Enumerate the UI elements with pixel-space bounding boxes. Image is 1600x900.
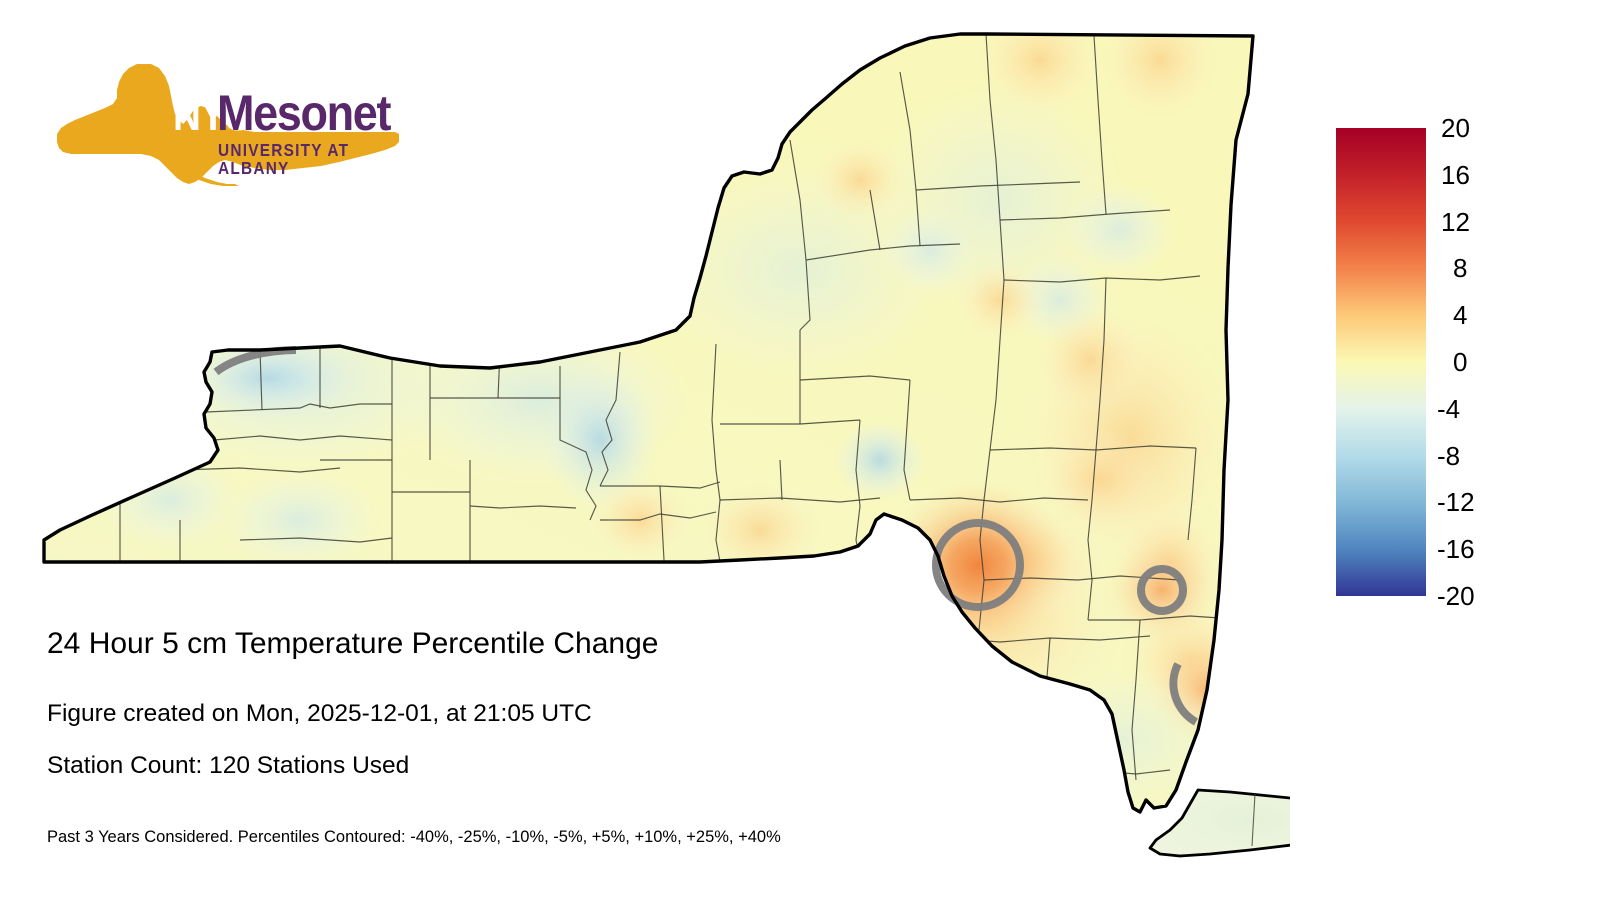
colorbar-gradient — [1336, 128, 1426, 596]
colorbar-tick-8: 8 — [1453, 255, 1467, 281]
colorbar-tick-labels: 201612840-4-8-12-16-20 — [1437, 128, 1527, 596]
colorbar-tick-neg4: -4 — [1437, 396, 1460, 422]
station-count-text: Station Count: 120 Stations Used — [47, 752, 409, 780]
colorbar-tick-0: 0 — [1453, 349, 1467, 375]
logo-university-text: UNIVERSITY AT ALBANY — [218, 142, 378, 177]
logo-mesonet-text: Mesonet — [217, 88, 390, 138]
colorbar-tick-12: 12 — [1441, 209, 1470, 235]
figure-title: 24 Hour 5 cm Temperature Percentile Chan… — [47, 627, 658, 661]
colorbar-tick-16: 16 — [1441, 162, 1470, 188]
colorbar-tick-neg20: -20 — [1437, 583, 1475, 609]
colorbar-tick-4: 4 — [1453, 302, 1467, 328]
colorbar-tick-20: 20 — [1441, 115, 1470, 141]
colorbar — [1336, 128, 1426, 596]
colorbar-tick-neg8: -8 — [1437, 443, 1460, 469]
colorbar-tick-neg12: -12 — [1437, 489, 1475, 515]
figure-created-text: Figure created on Mon, 2025-12-01, at 21… — [47, 700, 592, 728]
nys-mesonet-logo: NYS Mesonet UNIVERSITY AT ALBANY — [55, 62, 400, 187]
contour-footnote: Past 3 Years Considered. Percentiles Con… — [47, 828, 781, 847]
colorbar-tick-neg16: -16 — [1437, 536, 1475, 562]
